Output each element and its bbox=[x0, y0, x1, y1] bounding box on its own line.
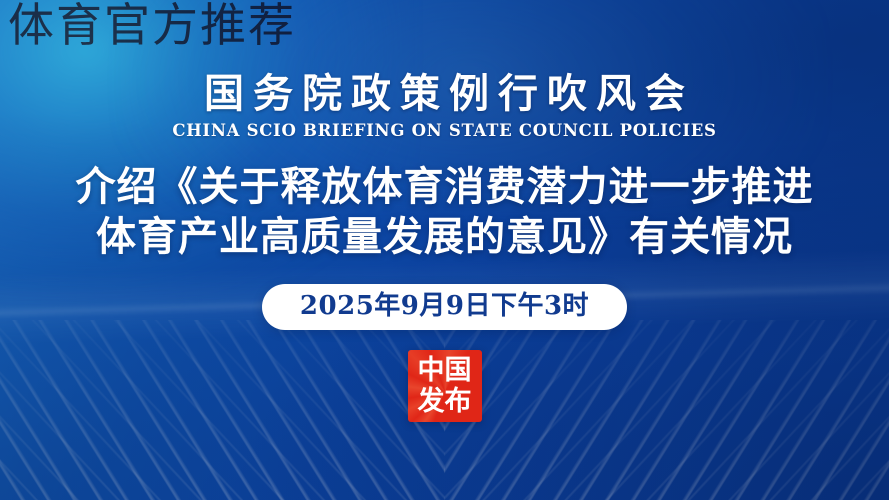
briefing-poster: 体育官方推荐 国务院政策例行吹风会 CHINA SCIO BRIEFING ON… bbox=[0, 0, 889, 500]
date-time-badge: 2025年9月9日下午3时 bbox=[262, 284, 627, 330]
china-release-logo: 中国 发布 bbox=[408, 350, 482, 422]
header-title-chinese: 国务院政策例行吹风会 bbox=[195, 74, 694, 114]
headline-line-1: 介绍《关于释放体育消费潜力进一步推进 bbox=[76, 166, 814, 208]
headline-line-2: 体育产业高质量发展的意见》有关情况 bbox=[96, 216, 793, 258]
logo-text-bottom: 发布 bbox=[418, 388, 472, 415]
logo-text-top: 中国 bbox=[418, 357, 472, 384]
headline-block: 介绍《关于释放体育消费潜力进一步推进 体育产业高质量发展的意见》有关情况 bbox=[76, 166, 814, 259]
header-title-english: CHINA SCIO BRIEFING ON STATE COUNCIL POL… bbox=[172, 123, 716, 140]
poster-content: 国务院政策例行吹风会 CHINA SCIO BRIEFING ON STATE … bbox=[0, 0, 889, 500]
